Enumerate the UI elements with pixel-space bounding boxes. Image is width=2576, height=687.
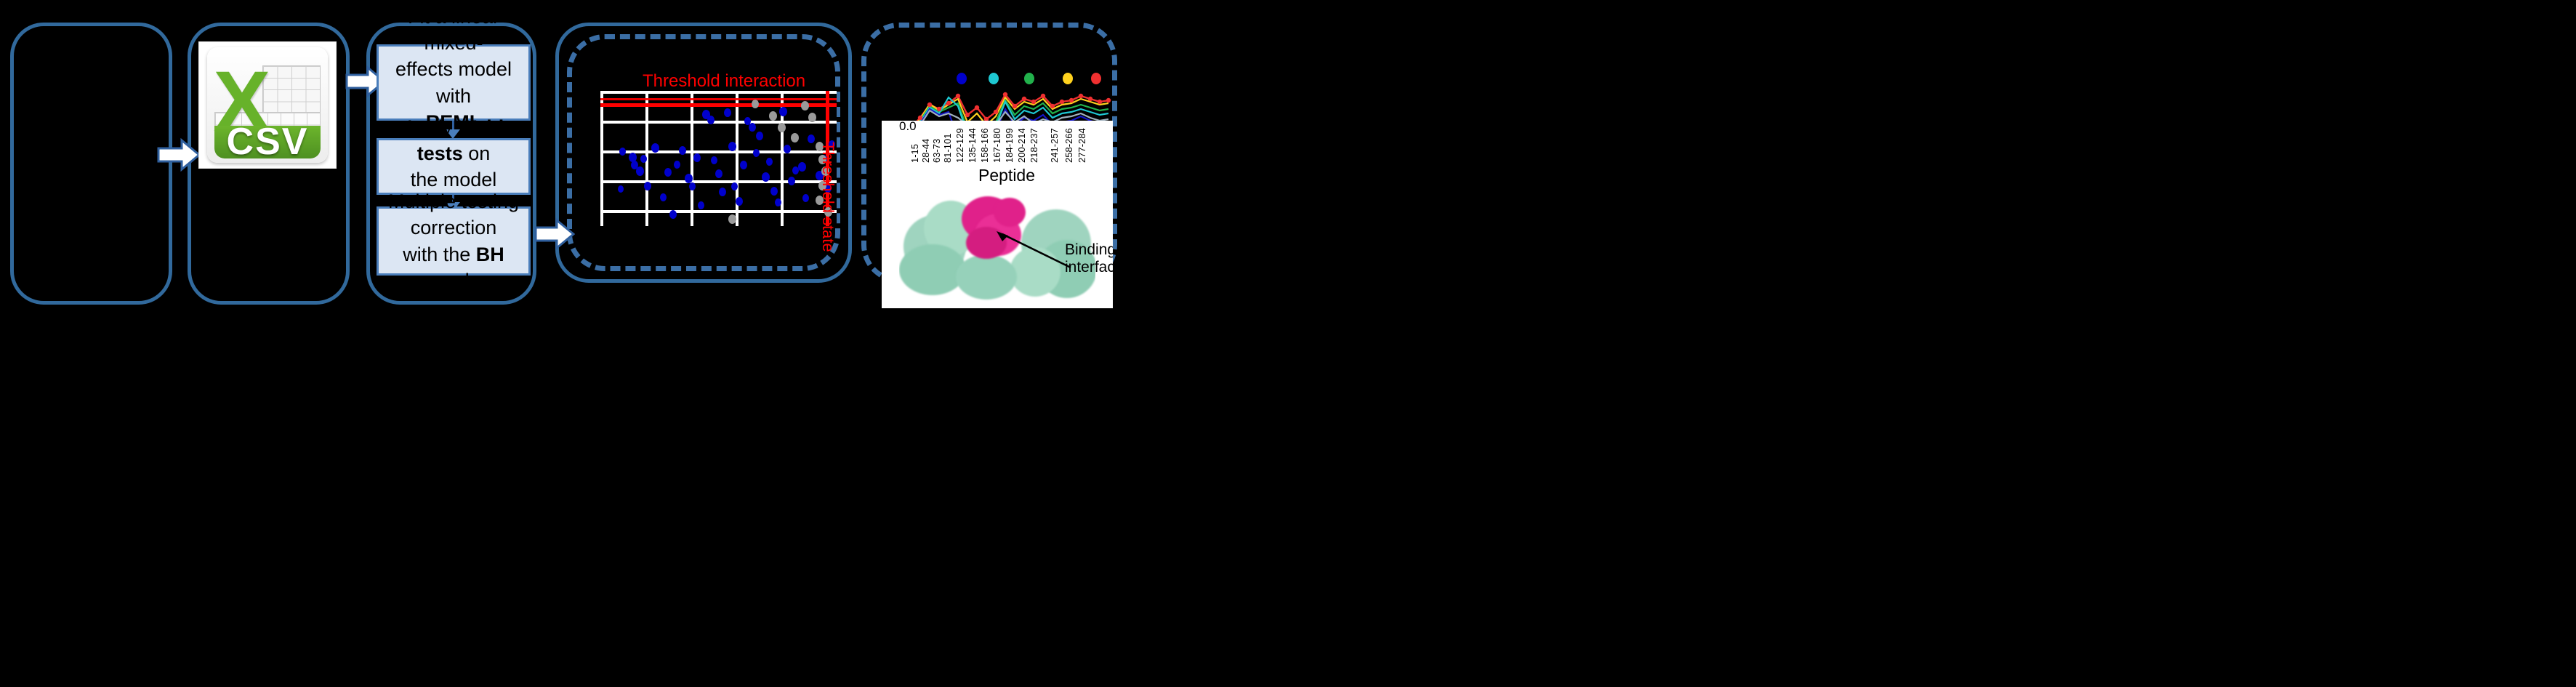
scatter-point (679, 146, 686, 155)
scatter-point (698, 201, 704, 209)
protein-lobe (899, 244, 966, 295)
protein-highlight (994, 198, 1026, 227)
scatter-point (644, 182, 651, 190)
scatter-point (715, 169, 723, 178)
scatter-point-ns (769, 111, 777, 121)
scatter-point (711, 156, 717, 164)
wald-tests-box[interactable]: Apply Wald tests onthe model parameters (377, 138, 531, 195)
peptide-tick-label: 184-199 (1004, 128, 1015, 163)
scatter-y-axis (600, 91, 603, 226)
scatter-point (707, 116, 715, 124)
scatter-point-ns (801, 101, 809, 111)
scatter-point (740, 161, 747, 169)
multiple-testing-box-text: Multiple testingcorrectionwith the BH pr… (386, 188, 521, 294)
legend-dot-cyan (989, 73, 999, 84)
scatter-point (808, 134, 815, 143)
binding-interface-label: Binding interface (1065, 241, 1113, 276)
threshold-interaction-label: Threshold interaction (643, 71, 805, 92)
scatter-point (719, 188, 726, 196)
threshold-scatter-plot (600, 91, 837, 226)
multiple-testing-box[interactable]: Multiple testingcorrectionwith the BH pr… (377, 206, 531, 276)
scatter-point-ns (808, 113, 816, 122)
fit-model-box[interactable]: Fit a linear mixed-effects model withREM… (377, 44, 531, 121)
legend-dot-blue (957, 73, 967, 84)
peptide-tick-label: 135-144 (967, 128, 978, 163)
peptide-tick-label: 1-15 (909, 144, 920, 163)
scatter-point (728, 142, 736, 151)
scatter-point-ns (728, 214, 736, 224)
workflow-diagram: X CSV Fit a linear mixed-effects model w… (0, 0, 2576, 687)
peptide-tick-label: 277-284 (1076, 128, 1087, 163)
peptide-tick-label: 241-257 (1049, 128, 1060, 163)
csv-icon-label: CSV (214, 126, 321, 158)
scatter-point-ns (778, 123, 786, 132)
binding-interface-leader-icon (995, 231, 1075, 272)
scatter-point (798, 162, 806, 172)
threshold-state-label: Threshold state (818, 142, 837, 252)
binding-interface-label-line1: Binding (1065, 241, 1113, 259)
scatter-point (736, 197, 743, 206)
scatter-point (802, 194, 809, 202)
scatter-point (770, 187, 778, 196)
scatter-point (660, 193, 667, 201)
scatter-point (779, 107, 787, 116)
scatter-point (766, 158, 773, 166)
scatter-point (762, 172, 770, 182)
peptide-tick-label: 167-180 (991, 128, 1002, 163)
peptide-tick-label: 63-73 (931, 139, 942, 163)
scatter-point (731, 182, 738, 190)
scatter-point (689, 182, 696, 190)
peptide-tick-label: 200-214 (1016, 128, 1027, 163)
legend-dot-red (1091, 73, 1101, 84)
peptide-tick-label: 158-166 (979, 128, 990, 163)
scatter-point (664, 168, 672, 177)
scatter-point (674, 161, 680, 169)
peptide-axis-title: Peptide (978, 166, 1035, 185)
model-to-results-arrow-icon (534, 218, 575, 250)
scatter-point (784, 145, 791, 153)
scatter-point-ns (752, 100, 759, 108)
scatter-point-ns (791, 133, 799, 142)
scatter-point (640, 155, 647, 163)
csv-file-icon: X CSV (198, 41, 337, 169)
scatter-point (636, 166, 644, 176)
scatter-point (788, 177, 795, 185)
scatter-point (775, 198, 781, 206)
structure-figure-card: 0.0 1-15 28-44 63-73 81-101 122-129 135-… (882, 121, 1113, 308)
peptide-tick-label: 28-44 (920, 139, 931, 163)
scatter-point (619, 148, 626, 156)
threshold-interaction-line-secondary (600, 98, 837, 100)
legend-dot-green (1024, 73, 1034, 84)
input-arrow-icon (157, 138, 201, 172)
scatter-point (618, 185, 624, 193)
scatter-point (651, 143, 659, 153)
scatter-point (749, 123, 756, 132)
peptide-tick-label: 218-237 (1029, 128, 1039, 163)
peptide-tick-label: 122-129 (954, 128, 965, 163)
scatter-point (756, 132, 763, 140)
scatter-point (669, 210, 677, 219)
scatter-point (753, 149, 760, 157)
csv-icon-body: X CSV (207, 47, 327, 163)
stage-panel-input (10, 23, 172, 305)
peptide-tick-label: 258-266 (1063, 128, 1074, 163)
scatter-point (693, 153, 701, 162)
y-tick-label: 0.0 (899, 121, 917, 134)
scatter-point (724, 108, 731, 117)
peptide-tick-label: 81-101 (942, 134, 953, 163)
legend-dot-yellow (1063, 73, 1073, 84)
binding-interface-label-line2: interface (1065, 259, 1113, 276)
